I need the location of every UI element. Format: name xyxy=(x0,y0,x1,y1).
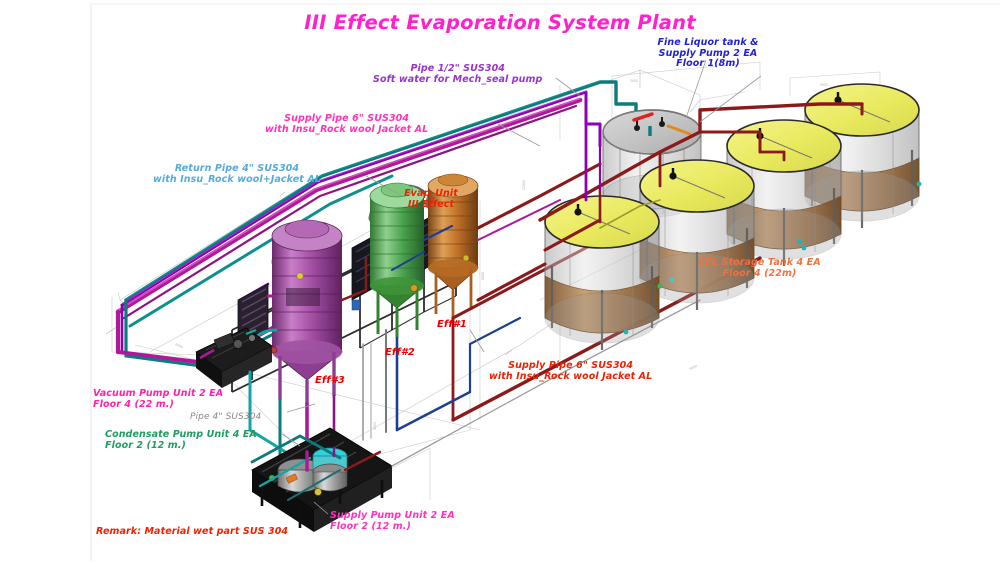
diagram-canvas: 17000 11500 6000 3000 3000 12000 8000 40… xyxy=(0,0,1000,563)
supply-pipe-upper-label: Supply Pipe 6" SUS304 with Insu_Rock woo… xyxy=(265,114,428,135)
vacuum-pump-unit xyxy=(196,328,272,388)
svg-text:4000: 4000 xyxy=(373,422,377,430)
svg-text:8000: 8000 xyxy=(481,272,485,280)
cfl-storage-tank-label: CFL Storage Tank 4 EA Floor 4 (22m) xyxy=(672,258,847,279)
svg-text:12000: 12000 xyxy=(522,180,526,190)
storage-tank-1 xyxy=(545,196,674,350)
effect-2-label: Eff#2 xyxy=(385,347,415,358)
effect-3-label: Eff#3 xyxy=(315,375,345,386)
supply-pump-label: Supply Pump Unit 2 EA Floor 2 (12 m.) xyxy=(330,511,455,532)
condensate-pump-label: Condensate Pump Unit 4 EA Floor 2 (12 m.… xyxy=(105,430,257,451)
soft-water-pipe-label: Pipe 1/2" SUS304 Soft water for Mech_sea… xyxy=(373,64,542,85)
svg-text:6000: 6000 xyxy=(175,342,184,349)
fine-liquor-tank-label: Fine Liquor tank & Supply Pump 2 EA Floo… xyxy=(628,38,788,70)
vacuum-pump-label: Vacuum Pump Unit 2 EA Floor 4 (22 m.) xyxy=(93,389,223,410)
effect-1-label: Eff#1 xyxy=(437,319,467,330)
remark-label: Remark: Material wet part SUS 304 xyxy=(96,527,288,538)
supply-pipe-lower-label: Supply Pipe 6" SUS304 with Insu_Rock woo… xyxy=(489,361,652,382)
svg-text:9000: 9000 xyxy=(689,364,698,371)
page-title: III Effect Evaporation System Plant xyxy=(0,12,1000,34)
pipe-4-sus304-label: Pipe 4" SUS304 xyxy=(190,412,261,422)
svg-text:3000: 3000 xyxy=(630,79,638,83)
evap-unit-label: Evap_Unit III Effect xyxy=(386,189,476,210)
return-pipe-label: Return Pipe 4" SUS304 with Insu_Rock woo… xyxy=(153,164,321,185)
svg-text:3000: 3000 xyxy=(820,83,828,87)
